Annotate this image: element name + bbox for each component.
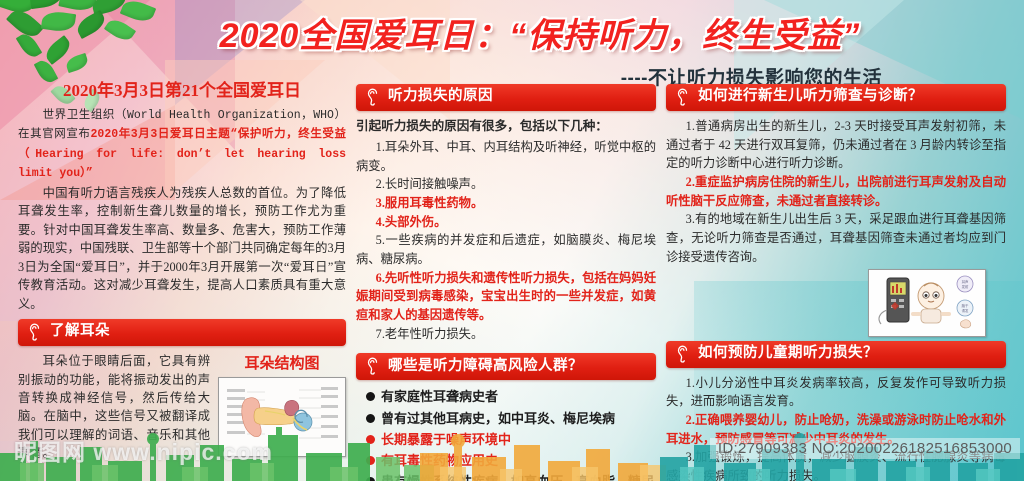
svg-text:脑干: 脑干 (962, 303, 969, 308)
causes-list: 1.耳朵外耳、中耳、内耳结构及听神经，听觉中枢的病变。2.长时间接触噪声。3.服… (356, 138, 656, 344)
bullet-icon (366, 392, 375, 401)
ear-icon (365, 357, 381, 375)
bullet-icon (366, 414, 375, 423)
list-item: 2.长时间接触噪声。 (356, 175, 656, 194)
list-item: 2.重症监护病房住院的新生儿，出院前进行耳声发射及自动听性脑干反应筛查，未通过者… (666, 173, 1006, 210)
list-item: 有耳毒性药物应用史 (366, 450, 656, 471)
bullet-icon (366, 477, 375, 481)
page-title: 2020全国爱耳日：“保持听力，终生受益” (190, 8, 890, 57)
section-title-causes: 听力损失的原因 (388, 88, 493, 105)
section-banner-causes[interactable]: 听力损失的原因 (356, 84, 656, 111)
section-banner-risk-groups[interactable]: 哪些是听力障碍高风险人群？ (356, 353, 656, 380)
list-item-label: 有耳毒性药物应用史 (381, 450, 498, 471)
section-banner-know-your-ear[interactable]: 了解耳朵 (18, 319, 346, 346)
risk-groups-list: 有家庭性耳聋病史者曾有过其他耳病史，如中耳炎、梅尼埃病长期暴露于噪声环境中有耳毒… (366, 386, 656, 481)
list-item: 1.普通病房出生的新生儿，2-3 天时接受耳声发射初筛，未通过者于 42 天进行… (666, 117, 1006, 173)
list-item: 1.耳朵外耳、中耳、内耳结构及听神经，听觉中枢的病变。 (356, 138, 656, 175)
list-item: 4.头部外伤。 (356, 213, 656, 232)
list-item: 长期暴露于噪声环境中 (366, 429, 656, 450)
site-watermark: 昵图网 www.nipic.com (14, 433, 273, 467)
list-item: 6.先听性听力损失和遗传性听力损失，包括在妈妈妊娠期间受到病毒感染，宝宝出生时的… (356, 269, 656, 325)
ear-icon (675, 88, 691, 106)
list-item: 有家庭性耳聋病史者 (366, 386, 656, 407)
ear-icon (675, 345, 691, 363)
left-paragraph-theme: 世界卫生组织（World Health Organization，WHO）在其官… (18, 105, 346, 182)
svg-text:发射: 发射 (962, 284, 969, 289)
list-item-label: 长期暴露于噪声环境中 (381, 429, 511, 450)
image-id-watermark: ID:27909383 NO:20200226182516853000 (710, 438, 1020, 459)
left-column: 2020年3月3日第21个全国爱耳日 世界卫生组织（World Health O… (18, 76, 346, 465)
section-title-risk-groups: 哪些是听力障碍高风险人群？ (388, 358, 583, 375)
list-item: 3.服用耳毒性药物。 (356, 194, 656, 213)
list-item: 患有慢性系统性疾病，如高血压、高血脂、糖尿病 (366, 471, 656, 481)
ear-icon (27, 323, 43, 341)
bullet-icon (366, 456, 375, 465)
prevention-list: 1.小儿分泌性中耳炎发病率较高，反复发作可导致听力损失，进而影响语言发育。2.正… (666, 374, 1006, 481)
left-lead-title: 2020年3月3日第21个全国爱耳日 (18, 76, 346, 101)
section-banner-prevention[interactable]: 如何预防儿童期听力损失？ (666, 341, 1006, 368)
list-item-label: 曾有过其他耳病史，如中耳炎、梅尼埃病 (381, 408, 615, 429)
section-title-know-your-ear: 了解耳朵 (50, 323, 110, 340)
list-item: 1.小儿分泌性中耳炎发病率较高，反复发作可导致听力损失，进而影响语言发育。 (666, 374, 1006, 411)
middle-column: 听力损失的原因 引起听力损失的原因有很多，包括以下几种： 1.耳朵外耳、中耳、内… (356, 84, 656, 481)
screening-list: 1.普通病房出生的新生儿，2-3 天时接受耳声发射初筛，未通过者于 42 天进行… (666, 117, 1006, 267)
list-item-label: 有家庭性耳聋病史者 (381, 386, 498, 407)
list-item: 5.一些疾病的并发症和后遗症，如脑膜炎、梅尼埃病、糖尿病。 (356, 231, 656, 268)
section-title-prevention: 如何预防儿童期听力损失？ (698, 345, 878, 362)
ear-icon (365, 88, 381, 106)
list-item: 7.老年性听力损失。 (356, 325, 656, 344)
list-item: 3.有的地域在新生儿出生后 3 天，采足跟血进行耳聋基因筛查，无论听力筛查是否通… (666, 210, 1006, 266)
left-paragraph-background: 中国有听力语言残疾人为残疾人总数的首位。为了降低耳聋发生率，控制新生聋儿数量的增… (18, 184, 346, 313)
list-item: 曾有过其他耳病史，如中耳炎、梅尼埃病 (366, 408, 656, 429)
right-column: 如何进行新生儿听力筛查与诊断？ 1.普通病房出生的新生儿，2-3 天时接受耳声发… (666, 84, 1006, 481)
ear-figure-title: 耳朵结构图 (218, 352, 346, 373)
section-title-newborn-screening: 如何进行新生儿听力筛查与诊断？ (698, 88, 923, 105)
list-item-label: 患有慢性系统性疾病，如高血压、高血脂、糖尿病 (381, 471, 656, 481)
svg-text:耳声: 耳声 (962, 279, 969, 284)
section-banner-newborn-screening[interactable]: 如何进行新生儿听力筛查与诊断？ (666, 84, 1006, 111)
causes-intro: 引起听力损失的原因有很多，包括以下几种： (356, 117, 656, 136)
bullet-icon (366, 435, 375, 444)
poster-canvas: 2020全国爱耳日：“保持听力，终生受益” ----不让听力损失影响您的生活 2… (0, 0, 1024, 481)
newborn-hearing-screening-illustration: 耳声发射 脑干诱发 (868, 269, 986, 337)
svg-text:诱发: 诱发 (962, 308, 969, 313)
